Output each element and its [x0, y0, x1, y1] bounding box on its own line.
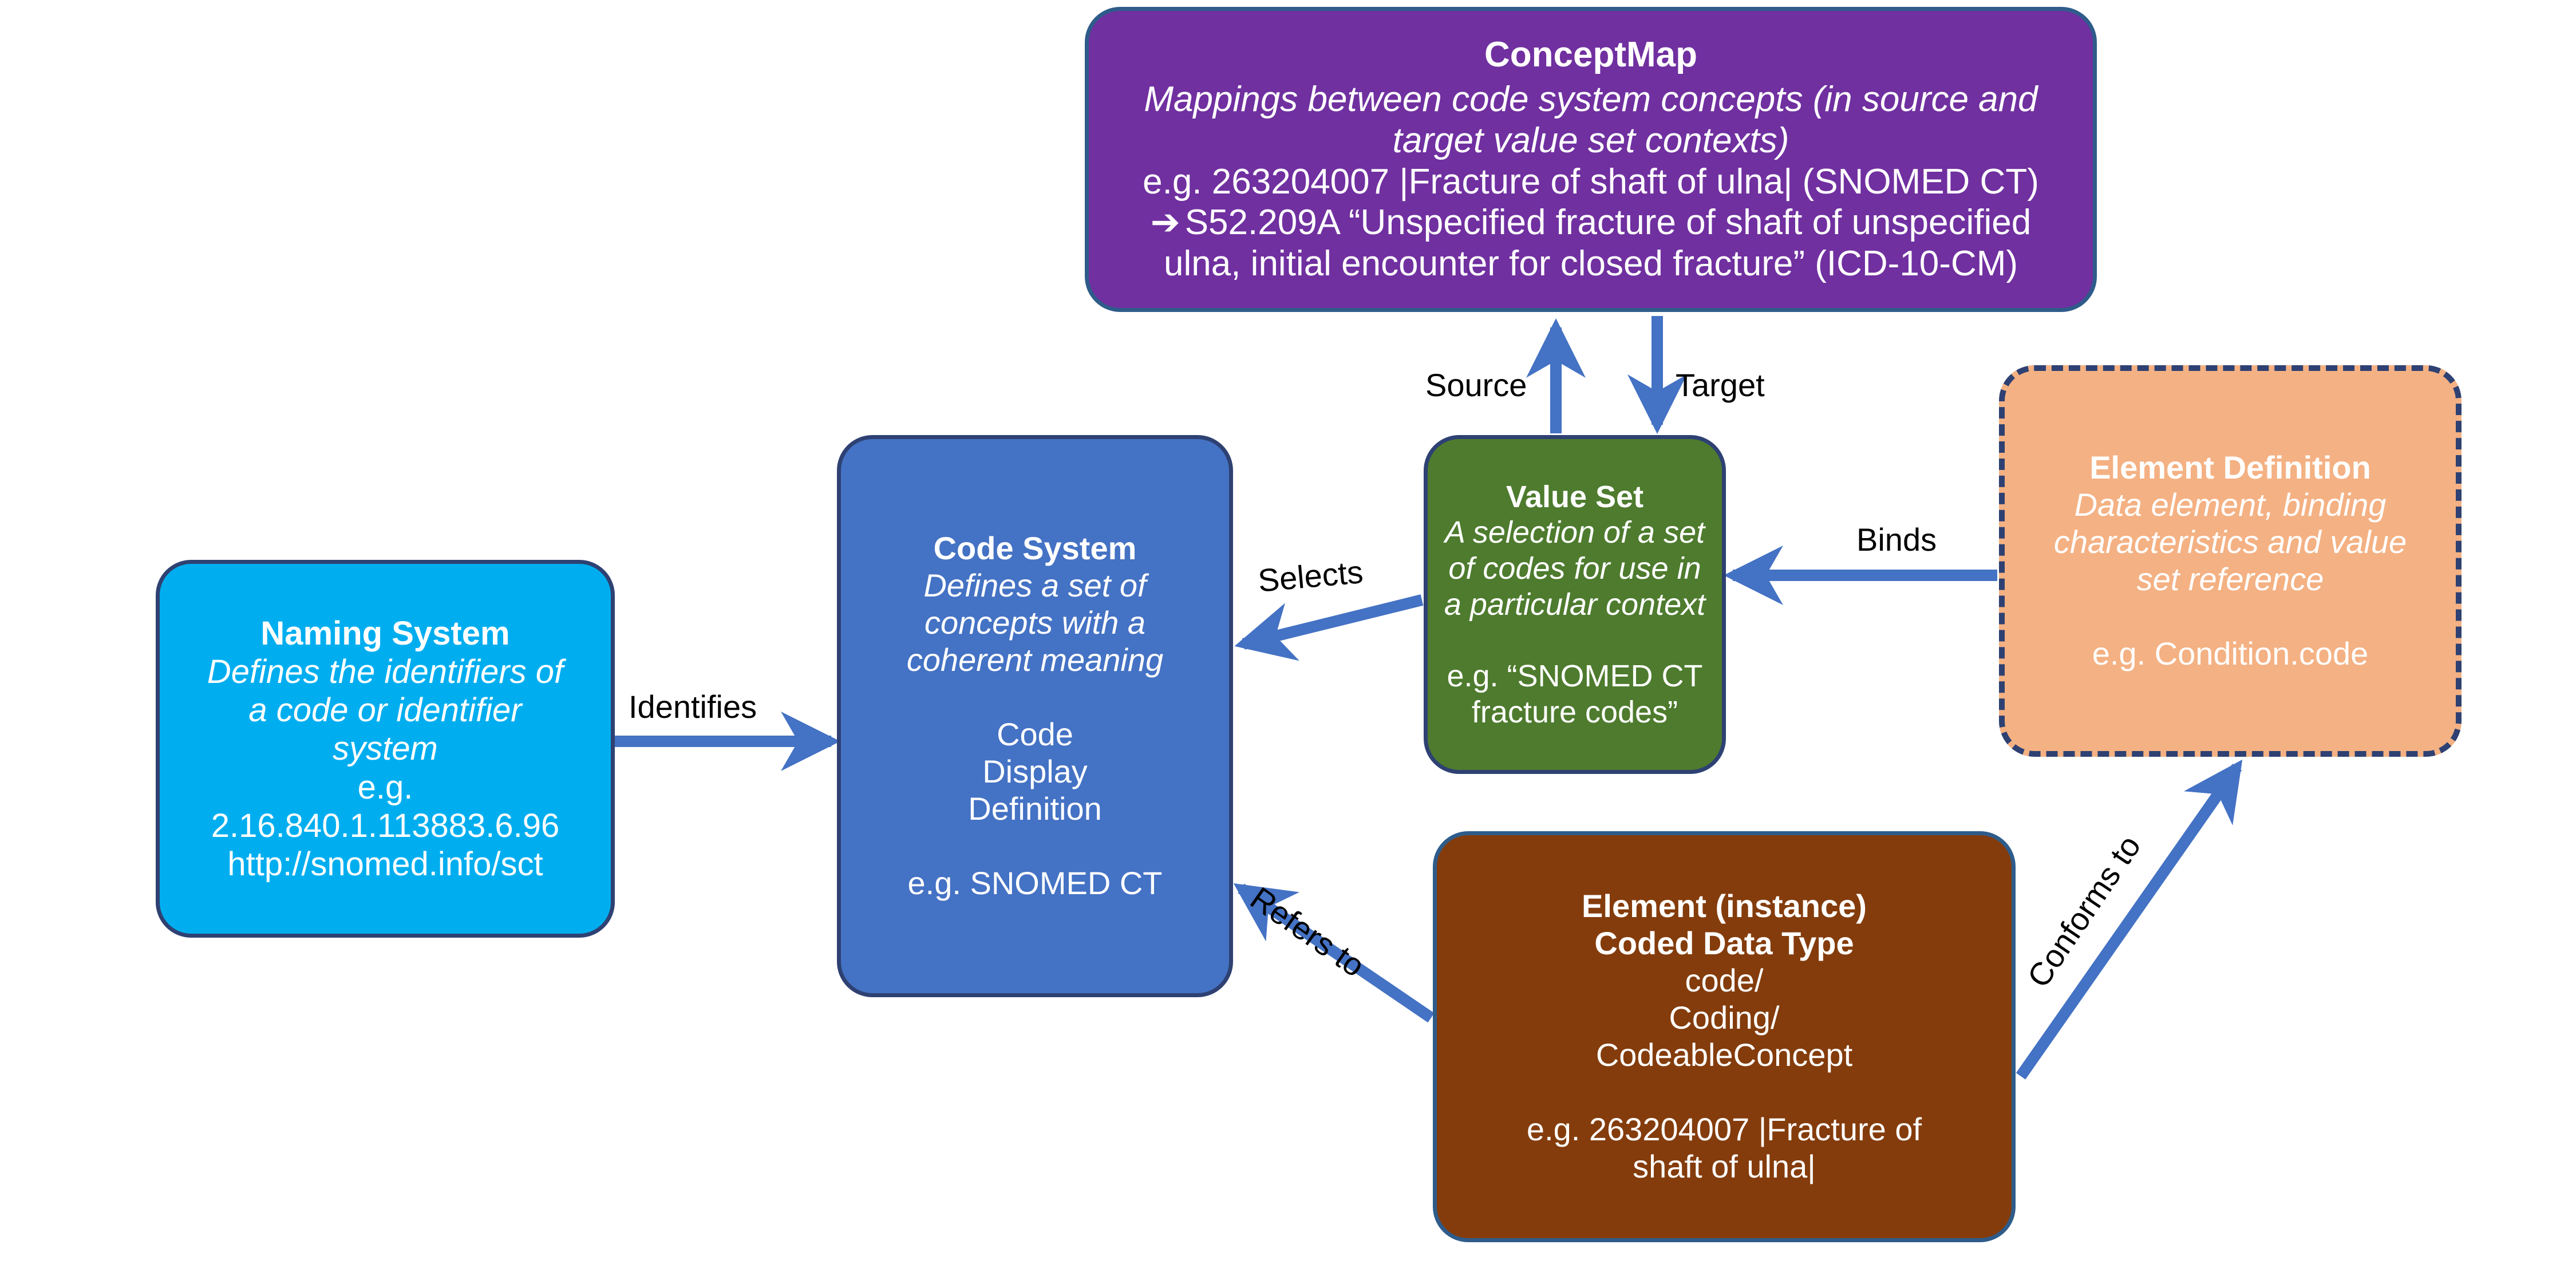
conceptmap-example-line-2-text: S52.209A “Unspecified fracture of shaft … — [1185, 203, 2032, 242]
naming-system-title: Naming System — [260, 614, 509, 653]
naming-system-example-line-1: e.g. — [358, 768, 413, 807]
naming-system-desc-line-3: system — [333, 729, 438, 768]
conceptmap-desc-line-2: target value set contexts) — [1393, 120, 1789, 161]
element-definition-example: e.g. Condition.code — [2092, 635, 2369, 673]
conceptmap-title: ConceptMap — [1484, 34, 1697, 76]
element-definition-desc-line-3: set reference — [2137, 561, 2324, 598]
naming-system-desc-line-1: Defines the identifiers of — [207, 653, 563, 691]
element-instance-example-line-1: e.g. 263204007 |Fracture of — [1527, 1111, 1922, 1148]
node-element-instance[interactable]: Element (instance) Coded Data Type code/… — [1433, 831, 2016, 1242]
code-system-title: Code System — [934, 530, 1137, 567]
value-set-desc-line-2: of codes for use in — [1448, 551, 1701, 587]
edge-label-identifies: Identifies — [629, 688, 757, 725]
edge-label-refers-to: Refers to — [1244, 879, 1372, 985]
code-system-example: e.g. SNOMED CT — [908, 865, 1163, 902]
naming-system-example-line-2: 2.16.840.1.113883.6.96 — [211, 807, 560, 845]
element-instance-type-coding: Coding/ — [1669, 999, 1779, 1037]
naming-system-example-line-3: http://snomed.info/sct — [227, 845, 543, 883]
code-system-field-display: Display — [982, 753, 1088, 791]
element-definition-desc-line-1: Data element, binding — [2075, 487, 2387, 524]
code-system-desc-line-1: Defines a set of — [923, 567, 1146, 605]
edge-label-conforms-to: Conforms to — [2020, 828, 2148, 994]
value-set-spacer — [1575, 622, 1575, 658]
arrow-conforms-to — [2021, 767, 2237, 1076]
element-instance-type-code: code/ — [1685, 962, 1764, 999]
right-arrow-icon: ➔ — [1151, 202, 1180, 243]
conceptmap-example-line-3: ulna, initial encounter for closed fract… — [1164, 243, 2018, 285]
node-conceptmap[interactable]: ConceptMap Mappings between code system … — [1085, 7, 2097, 312]
element-definition-spacer — [2230, 598, 2231, 635]
arrow-selects — [1243, 600, 1422, 644]
node-naming-system[interactable]: Naming System Defines the identifiers of… — [156, 560, 615, 938]
code-system-spacer-1 — [1035, 679, 1036, 716]
code-system-spacer-2 — [1035, 828, 1036, 865]
node-code-system[interactable]: Code System Defines a set of concepts wi… — [837, 435, 1233, 997]
edge-label-binds: Binds — [1856, 521, 1937, 558]
conceptmap-example-line-2: ➔S52.209A “Unspecified fracture of shaft… — [1151, 202, 2032, 243]
element-instance-type-codeableconcept: CodeableConcept — [1596, 1037, 1852, 1074]
element-instance-title-line-1: Element (instance) — [1582, 888, 1867, 925]
code-system-field-definition: Definition — [968, 791, 1101, 828]
code-system-desc-line-3: coherent meaning — [907, 642, 1163, 679]
diagram-canvas: ConceptMap Mappings between code system … — [0, 0, 2576, 1288]
element-instance-title-line-2: Coded Data Type — [1594, 925, 1854, 962]
element-instance-spacer — [1724, 1074, 1725, 1111]
edge-label-selects: Selects — [1257, 553, 1365, 599]
value-set-example-line-1: e.g. “SNOMED CT — [1447, 658, 1702, 694]
code-system-field-code: Code — [997, 716, 1073, 753]
element-instance-example-line-2: shaft of ulna| — [1633, 1148, 1816, 1186]
value-set-example-line-2: fracture codes” — [1472, 694, 1678, 730]
naming-system-desc-line-2: a code or identifier — [248, 691, 521, 729]
node-element-definition[interactable]: Element Definition Data element, binding… — [1999, 365, 2462, 757]
value-set-desc-line-3: a particular context — [1444, 587, 1705, 623]
value-set-desc-line-1: A selection of a set — [1445, 515, 1705, 551]
edge-label-source: Source — [1425, 366, 1527, 404]
element-definition-desc-line-2: characteristics and value — [2054, 524, 2407, 561]
node-value-set[interactable]: Value Set A selection of a set of codes … — [1424, 435, 1726, 774]
conceptmap-example-line-1: e.g. 263204007 |Fracture of shaft of uln… — [1143, 161, 2039, 203]
code-system-desc-line-2: concepts with a — [924, 605, 1145, 642]
element-definition-title: Element Definition — [2089, 449, 2371, 487]
edge-label-target: Target — [1676, 366, 1765, 404]
conceptmap-desc-line-1: Mappings between code system concepts (i… — [1144, 79, 2037, 120]
value-set-title: Value Set — [1506, 479, 1643, 515]
